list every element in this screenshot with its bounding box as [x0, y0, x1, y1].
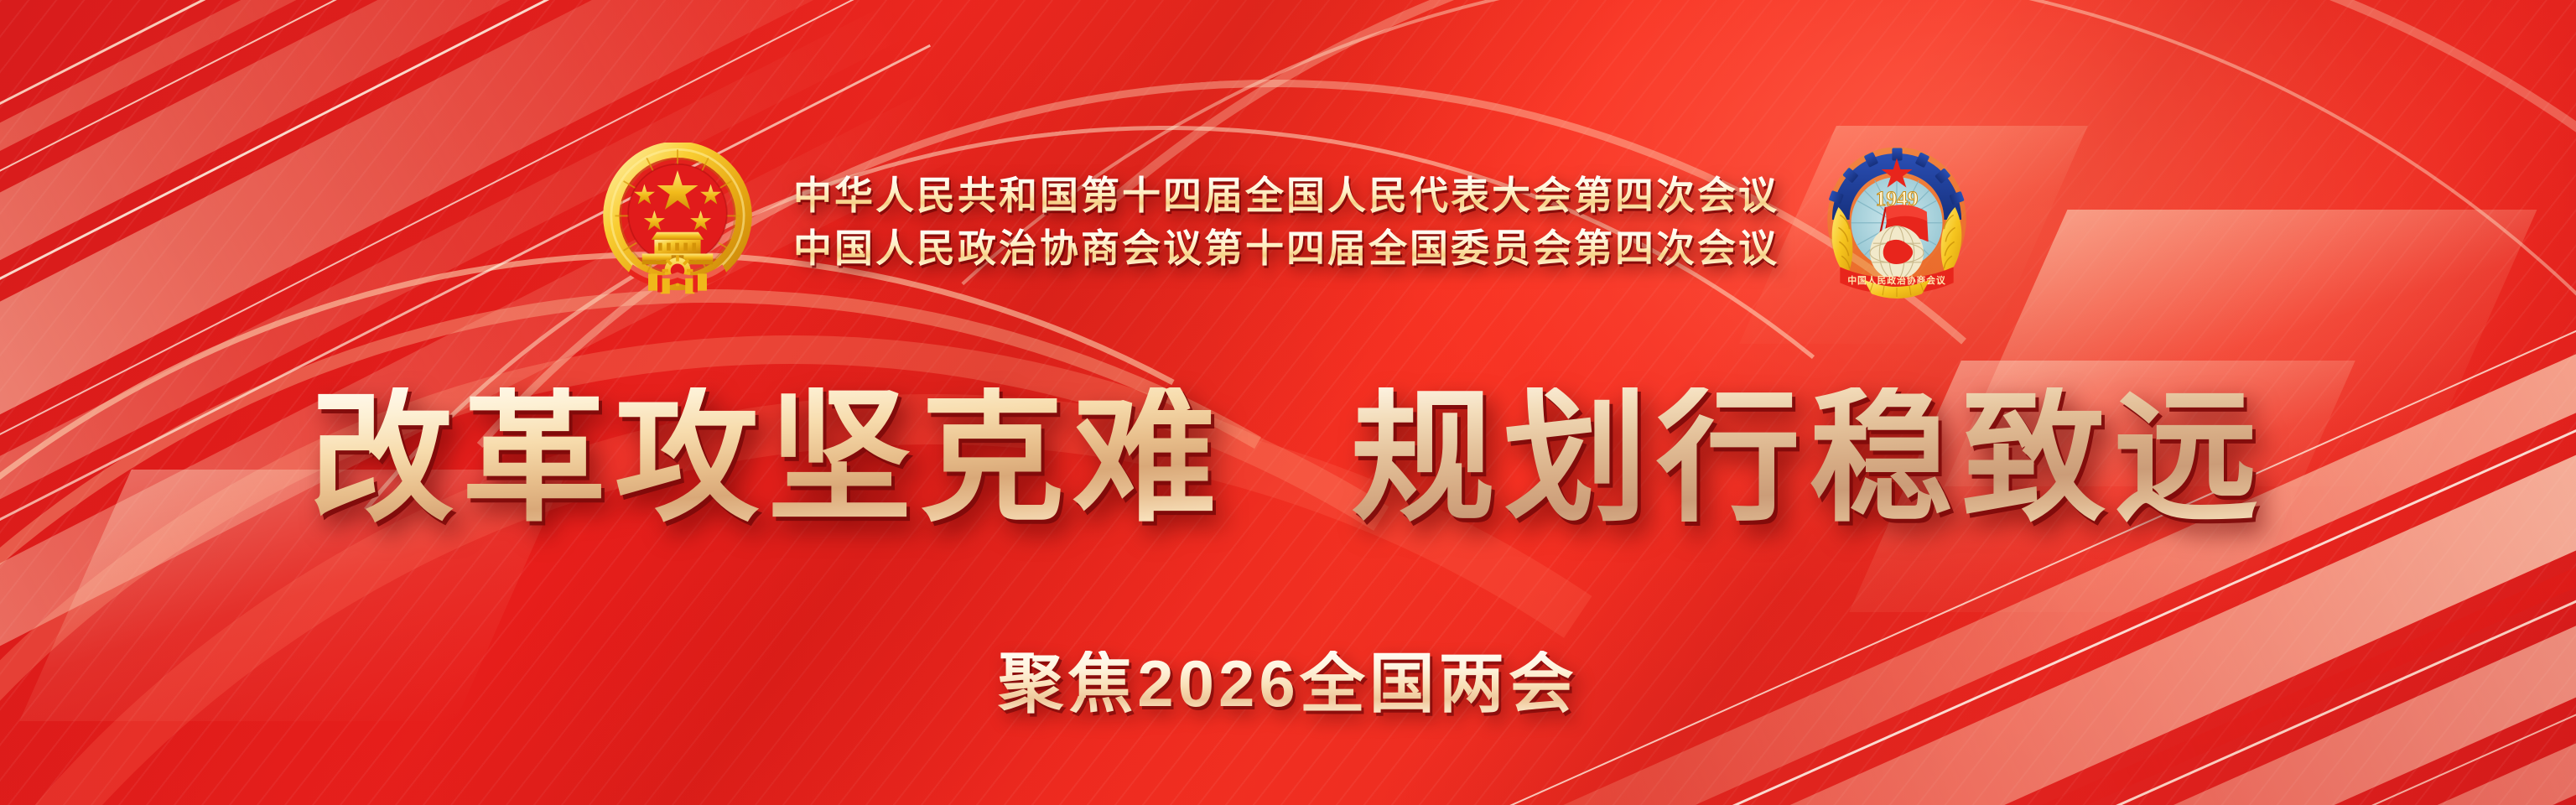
headline-phrase-2: 规划行稳致远 — [1351, 387, 2267, 532]
light-streak — [0, 0, 922, 696]
light-streak — [0, 0, 896, 645]
cppcc-session-title: 中国人民政治协商会议第十四届全国委员会第四次会议 — [793, 228, 1779, 269]
masthead: 中华人民共和国第十四届全国人民代表大会第四次会议 中国人民政治协商会议第十四届全… — [0, 141, 2576, 303]
cppcc-emblem: 1949 — [1818, 141, 1976, 303]
headline-phrase-1: 改革攻坚克难 — [309, 387, 1225, 532]
globe — [1870, 226, 1924, 280]
two-sessions-banner: 中华人民共和国第十四届全国人民代表大会第四次会议 中国人民政治协商会议第十四届全… — [0, 0, 2576, 805]
subtitle: 聚焦2026全国两会 — [0, 651, 2576, 716]
national-emblem-of-china — [600, 143, 755, 301]
headline: 改革攻坚克难 规划行稳致远 — [0, 387, 2576, 532]
npc-session-title: 中华人民共和国第十四届全国人民代表大会第四次会议 — [793, 175, 1779, 216]
masthead-titles: 中华人民共和国第十四届全国人民代表大会第四次会议 中国人民政治协商会议第十四届全… — [787, 175, 1786, 269]
light-streak — [1199, 295, 2576, 805]
cppcc-ring-text: 中国人民政治协商会议 — [1847, 274, 1945, 286]
